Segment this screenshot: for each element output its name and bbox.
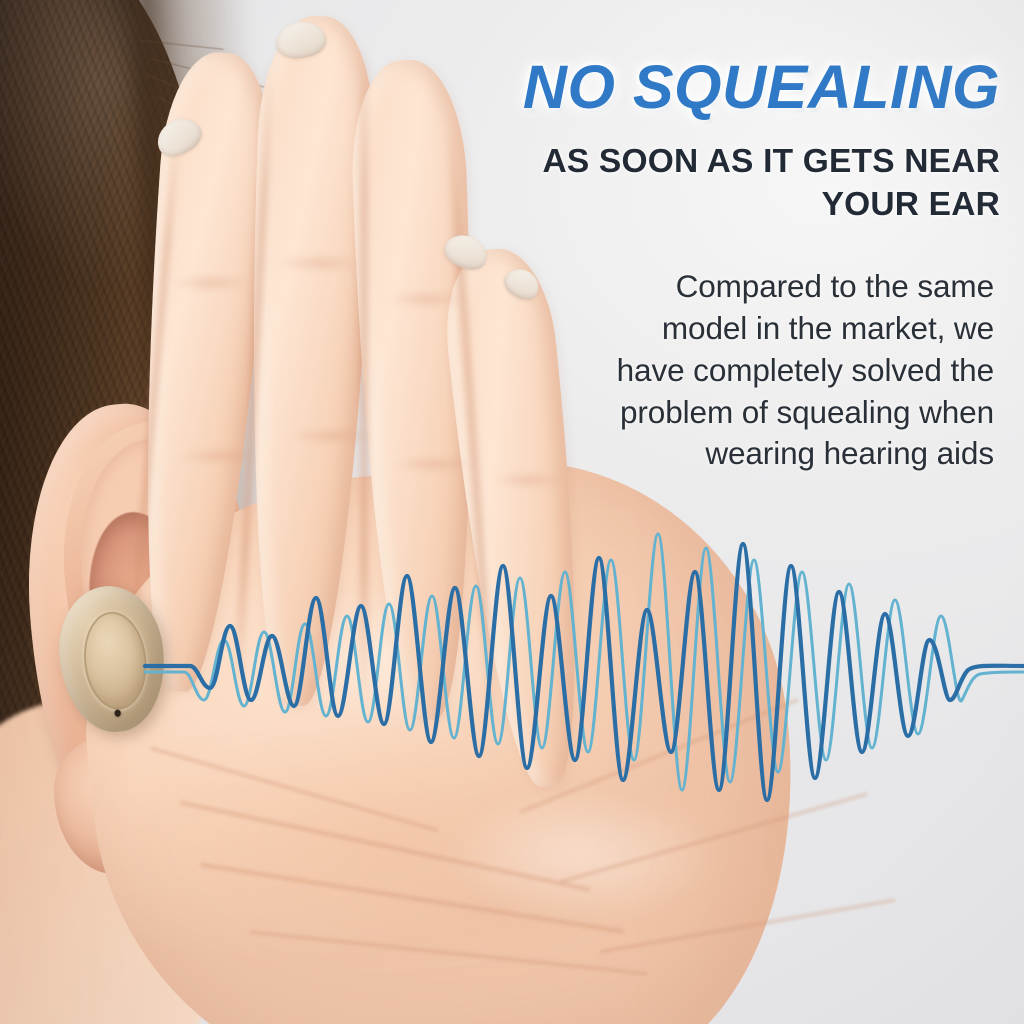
- subheadline-line-1: AS SOON AS IT GETS NEAR: [372, 141, 1000, 183]
- copy-block: NO SQUEALING AS SOON AS IT GETS NEAR YOU…: [372, 56, 1008, 475]
- finger-gap: [360, 46, 368, 706]
- hearing-aid-faceplate: [79, 609, 151, 713]
- body-copy-line-4: problem of squealing when: [372, 392, 994, 434]
- body-copy: Compared to the same model in the market…: [372, 266, 994, 475]
- body-copy-line-2: model in the market, we: [372, 308, 994, 350]
- hearing-aid-microphone-port: [114, 709, 121, 717]
- knuckle-crease: [172, 444, 264, 468]
- body-copy-line-1: Compared to the same: [372, 266, 994, 308]
- knuckle-crease: [282, 424, 378, 448]
- subheadline-line-2: YOUR EAR: [372, 184, 1000, 226]
- body-copy-line-3: have completely solved the: [372, 350, 994, 392]
- knuckle-crease: [166, 270, 256, 296]
- advertisement-canvas: NO SQUEALING AS SOON AS IT GETS NEAR YOU…: [0, 0, 1024, 1024]
- headline: NO SQUEALING: [372, 56, 1000, 119]
- knuckle-crease: [272, 250, 368, 276]
- body-copy-line-5: wearing hearing aids: [372, 433, 994, 475]
- subheadline: AS SOON AS IT GETS NEAR YOUR EAR: [372, 141, 1000, 225]
